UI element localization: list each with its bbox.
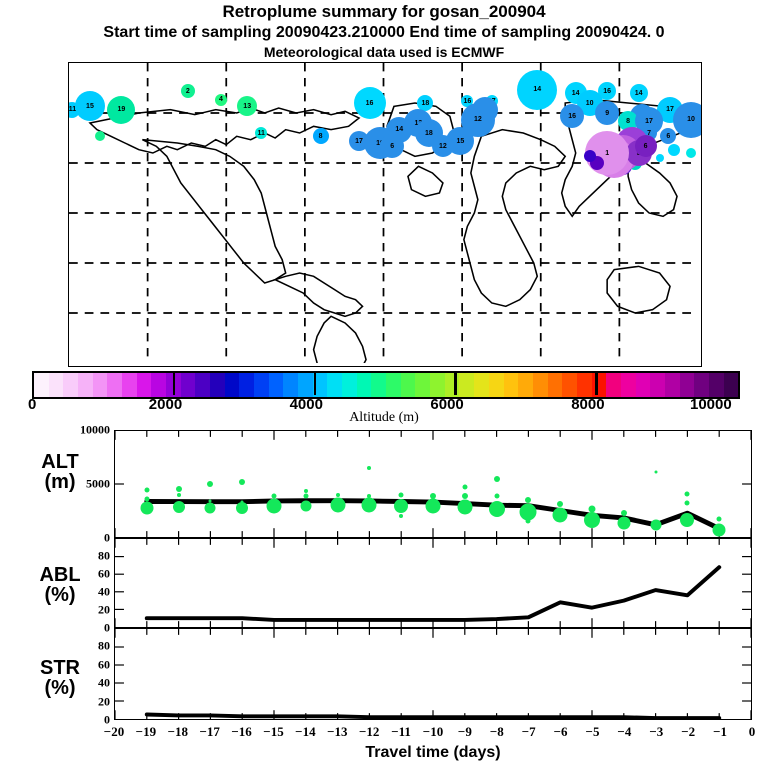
x-axis-tick-label: 0 — [749, 724, 756, 740]
alt-scatter-bubble — [144, 496, 149, 501]
alt-scatter-bubble — [717, 516, 722, 521]
alt-scatter-bubble — [526, 518, 531, 523]
alt-scatter-bubble — [685, 492, 690, 497]
alt-scatter-bubble — [173, 501, 185, 513]
colorbar-swatch — [78, 373, 93, 397]
colorbar-swatch — [577, 373, 592, 397]
alt-scatter-bubble — [457, 500, 472, 515]
x-axis-tick-label: −11 — [391, 724, 411, 740]
x-axis-tick-label: −9 — [458, 724, 472, 740]
str-plot-canvas — [115, 629, 751, 719]
alt-scatter-bubble — [685, 500, 690, 505]
colorbar-swatch — [195, 373, 210, 397]
colorbar-swatch — [709, 373, 724, 397]
alt-scatter-bubble — [330, 497, 345, 512]
y-axis-tick-label: 80 — [98, 639, 110, 654]
colorbar-swatch — [694, 373, 709, 397]
map-cluster-marker[interactable]: 2 — [181, 84, 195, 98]
x-axis-tick-label: −12 — [359, 724, 379, 740]
colorbar-swatch — [445, 373, 460, 397]
colorbar-swatch — [548, 373, 563, 397]
page-title: Retroplume summary for gosan_200904 — [0, 2, 768, 22]
alt-scatter-bubble — [430, 493, 436, 499]
map-cluster-marker[interactable]: 10 — [673, 102, 702, 138]
alt-scatter-bubble — [462, 484, 467, 489]
meteorological-data-line: Meteorological data used is ECMWF — [0, 44, 768, 60]
colorbar-gradient — [34, 373, 738, 397]
colorbar-swatch — [327, 373, 342, 397]
colorbar-swatch — [283, 373, 298, 397]
alt-scatter-bubble — [367, 466, 371, 470]
alt-scatter-bubble — [617, 516, 630, 529]
map-cluster-marker[interactable]: 6 — [635, 135, 657, 157]
y-axis-tick-label: 5000 — [86, 477, 110, 492]
alt-scatter-bubble — [362, 498, 377, 513]
alt-scatter-bubble — [336, 493, 340, 497]
colorbar-separator — [173, 371, 176, 395]
map-cluster-marker[interactable]: 13 — [237, 96, 257, 116]
alt-scatter-bubble — [680, 513, 694, 527]
alt-scatter-bubble — [236, 502, 248, 514]
x-axis-tick-label: −2 — [681, 724, 695, 740]
colorbar-swatch — [269, 373, 284, 397]
str-plot-panel[interactable] — [114, 628, 752, 720]
alt-scatter-bubble — [205, 503, 216, 514]
x-axis-tick-label: −3 — [649, 724, 663, 740]
map-cluster-marker[interactable]: 16 — [560, 104, 584, 128]
alt-scatter-bubble — [394, 499, 408, 513]
colorbar-swatch — [371, 373, 386, 397]
alt-scatter-bubble — [207, 481, 213, 487]
map-cluster-marker[interactable]: 19 — [107, 96, 135, 124]
x-axis-tick-label: −19 — [136, 724, 156, 740]
world-map-panel[interactable]: 1924131181618161711121314181719615121414… — [68, 62, 702, 367]
map-cluster-marker[interactable]: 9 — [595, 101, 619, 125]
colorbar-swatch — [415, 373, 430, 397]
abl-plot-canvas — [115, 539, 751, 627]
x-axis-tick-label: −14 — [295, 724, 315, 740]
alt-scatter-bubble — [462, 493, 468, 499]
alt-scatter-bubble — [241, 501, 244, 504]
x-axis-tick-label: −17 — [199, 724, 219, 740]
altitude-colorbar[interactable] — [32, 371, 740, 399]
alt-plot-panel[interactable] — [114, 430, 752, 538]
alt-scatter-bubble — [239, 479, 245, 485]
x-axis-title: Travel time (days) — [114, 744, 752, 762]
colorbar-swatch — [680, 373, 695, 397]
x-axis-tick-label: −7 — [522, 724, 536, 740]
colorbar-swatch — [34, 373, 49, 397]
map-cluster-marker[interactable]: 16 — [354, 87, 386, 119]
alt-scatter-bubble — [399, 514, 403, 518]
alt-scatter-bubble — [209, 499, 212, 502]
colorbar-swatch — [93, 373, 108, 397]
colorbar-swatch — [592, 373, 607, 397]
alt-scatter-bubble — [621, 510, 627, 516]
x-axis-tick-label: −1 — [713, 724, 727, 740]
abl-y-axis-labels: 020406080 — [66, 538, 110, 628]
alt-scatter-bubble — [304, 489, 308, 493]
colorbar-swatch — [210, 373, 225, 397]
map-cluster-marker[interactable] — [668, 144, 680, 156]
x-axis-tick-label: −10 — [423, 724, 443, 740]
colorbar-swatch — [151, 373, 166, 397]
y-axis-tick-label: 40 — [98, 585, 110, 600]
alt-scatter-bubble — [303, 493, 308, 498]
colorbar-swatch — [518, 373, 533, 397]
colorbar-swatch — [107, 373, 122, 397]
colorbar-swatch — [63, 373, 78, 397]
colorbar-swatch — [137, 373, 152, 397]
alt-scatter-bubble — [399, 493, 404, 498]
alt-scatter-bubble — [654, 470, 657, 473]
y-axis-tick-label: 60 — [98, 567, 110, 582]
colorbar-separator — [454, 371, 457, 395]
alt-scatter-bubble — [650, 519, 661, 530]
map-cluster-marker[interactable]: 6 — [660, 128, 676, 144]
alt-scatter-bubble — [177, 493, 181, 497]
map-cluster-marker[interactable]: 14 — [630, 84, 648, 102]
colorbar-swatch — [621, 373, 636, 397]
colorbar-separator — [314, 371, 317, 395]
alt-scatter-bubble — [553, 507, 568, 522]
colorbar-swatch — [665, 373, 680, 397]
alt-scatter-bubble — [713, 523, 726, 536]
colorbar-swatch — [225, 373, 240, 397]
map-cluster-marker[interactable]: 8 — [313, 128, 329, 144]
alt-scatter-bubble — [494, 476, 500, 482]
colorbar-separator — [595, 371, 598, 395]
map-cluster-marker[interactable] — [584, 150, 596, 162]
x-axis-tick-label: −8 — [490, 724, 504, 740]
alt-scatter-bubble — [144, 487, 149, 492]
x-axis-tick-label: −6 — [554, 724, 568, 740]
colorbar-title: Altitude (m) — [0, 410, 768, 426]
alt-scatter-bubble — [300, 500, 311, 511]
x-axis-tick-label: −4 — [617, 724, 631, 740]
map-cluster-marker[interactable]: 11 — [255, 127, 267, 139]
colorbar-swatch — [724, 373, 739, 397]
alt-scatter-bubble — [272, 494, 277, 499]
colorbar-swatch — [401, 373, 416, 397]
alt-scatter-bubble — [589, 506, 596, 513]
map-cluster-marker[interactable]: 12 — [432, 135, 454, 157]
colorbar-swatch — [298, 373, 313, 397]
colorbar-swatch — [489, 373, 504, 397]
colorbar-swatch — [342, 373, 357, 397]
colorbar-swatch — [49, 373, 64, 397]
alt-scatter-bubble — [140, 501, 153, 514]
colorbar-swatch — [122, 373, 137, 397]
abl-plot-panel[interactable] — [114, 538, 752, 628]
colorbar-swatch — [606, 373, 621, 397]
y-axis-tick-label: 10000 — [80, 423, 110, 438]
alt-scatter-bubble — [267, 499, 282, 514]
colorbar-swatch — [386, 373, 401, 397]
colorbar-swatch — [430, 373, 445, 397]
map-cluster-marker[interactable]: 4 — [215, 94, 227, 106]
alt-scatter-bubble — [494, 493, 499, 498]
alt-scatter-bubble — [426, 499, 441, 514]
colorbar-swatch — [650, 373, 665, 397]
colorbar-swatch — [562, 373, 577, 397]
map-cluster-marker[interactable]: 14 — [517, 70, 557, 110]
colorbar-swatch — [504, 373, 519, 397]
x-axis-tick-label: −16 — [231, 724, 251, 740]
colorbar-swatch — [459, 373, 474, 397]
alt-scatter-bubble — [489, 501, 505, 517]
alt-scatter-bubble — [525, 497, 531, 503]
sampling-time-line: Start time of sampling 20090423.210000 E… — [0, 24, 768, 42]
x-axis-tick-label: −20 — [104, 724, 124, 740]
map-cluster-marker[interactable] — [95, 131, 105, 141]
colorbar-swatch — [239, 373, 254, 397]
y-axis-tick-label: 80 — [98, 549, 110, 564]
y-axis-tick-label: 20 — [98, 603, 110, 618]
alt-scatter-bubble — [176, 486, 182, 492]
alt-scatter-bubble — [557, 501, 563, 507]
x-axis-tick-label: −15 — [263, 724, 283, 740]
colorbar-swatch — [357, 373, 372, 397]
map-cluster-marker[interactable] — [686, 148, 696, 158]
colorbar-swatch — [533, 373, 548, 397]
alt-scatter-bubble — [367, 494, 371, 498]
alt-scatter-bubble — [584, 512, 600, 528]
map-cluster-marker[interactable]: 6 — [380, 134, 404, 158]
map-cluster-marker[interactable] — [656, 154, 664, 162]
colorbar-swatch — [636, 373, 651, 397]
x-axis-tick-label: −5 — [586, 724, 600, 740]
x-axis-tick-label: −13 — [327, 724, 347, 740]
y-axis-tick-label: 40 — [98, 676, 110, 691]
x-axis-tick-label: −18 — [168, 724, 188, 740]
str-y-axis-labels: 020406080 — [66, 628, 110, 720]
y-axis-tick-label: 20 — [98, 694, 110, 709]
colorbar-swatch — [181, 373, 196, 397]
y-axis-tick-label: 60 — [98, 657, 110, 672]
alt-y-axis-labels: 0500010000 — [66, 430, 110, 538]
colorbar-swatch — [474, 373, 489, 397]
colorbar-swatch — [254, 373, 269, 397]
